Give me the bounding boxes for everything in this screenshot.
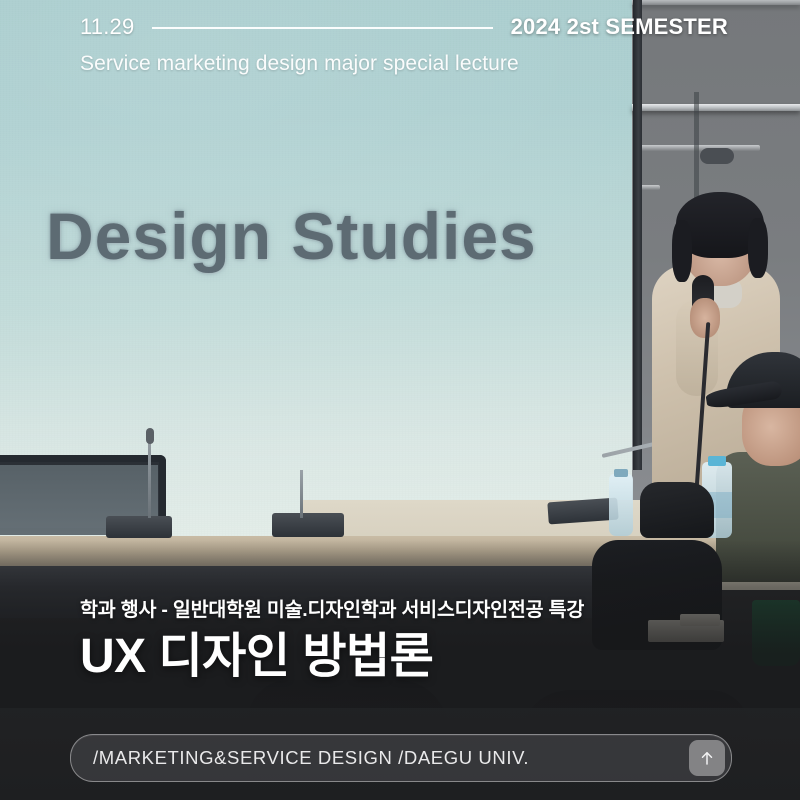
horizontal-rule-icon: [152, 27, 492, 29]
title-block: 학과 행사 - 일반대학원 미술.디자인학과 서비스디자인전공 특강 UX 디자…: [80, 593, 584, 682]
footer-bar[interactable]: /MARKETING&SERVICE DESIGN /DAEGU UNIV.: [70, 734, 732, 782]
event-date: 11.29: [80, 14, 134, 40]
arrow-up-icon: [698, 749, 716, 767]
poster-header: 11.29 2024 2st SEMESTER Service marketin…: [0, 0, 800, 92]
window-frame-post-secondary: [694, 92, 699, 212]
water-bottle-cap-right: [708, 456, 726, 466]
window-handle-bar: [640, 145, 760, 151]
window-mullion-upper: [632, 104, 800, 111]
footer-credit-text: /MARKETING&SERVICE DESIGN /DAEGU UNIV.: [93, 747, 529, 769]
black-bag-upper: [640, 482, 714, 538]
microphone-base-center: [272, 513, 344, 537]
speaker-hair-right: [748, 218, 768, 278]
arrow-up-button[interactable]: [689, 740, 725, 776]
microphone-base-left: [106, 516, 172, 538]
projected-slide-text: Design Studies: [46, 198, 537, 274]
water-bottle-left: [609, 474, 633, 536]
header-top-row: 11.29 2024 2st SEMESTER: [80, 14, 728, 40]
microphone-stem-center: [300, 470, 303, 518]
semester-label: 2024 2st SEMESTER: [511, 14, 728, 40]
microphone-capsule-left: [146, 428, 154, 444]
speaker-hair-left: [672, 220, 692, 282]
header-subtitle: Service marketing design major special l…: [80, 52, 519, 76]
water-bottle-cap-left: [614, 469, 628, 477]
window-lock-knob: [700, 148, 734, 164]
page-title: UX 디자인 방법론: [80, 632, 584, 682]
lecture-poster: Design Studies: [0, 0, 800, 800]
event-eyebrow: 학과 행사 - 일반대학원 미술.디자인학과 서비스디자인전공 특강: [80, 593, 584, 622]
microphone-stem-left: [148, 432, 151, 518]
